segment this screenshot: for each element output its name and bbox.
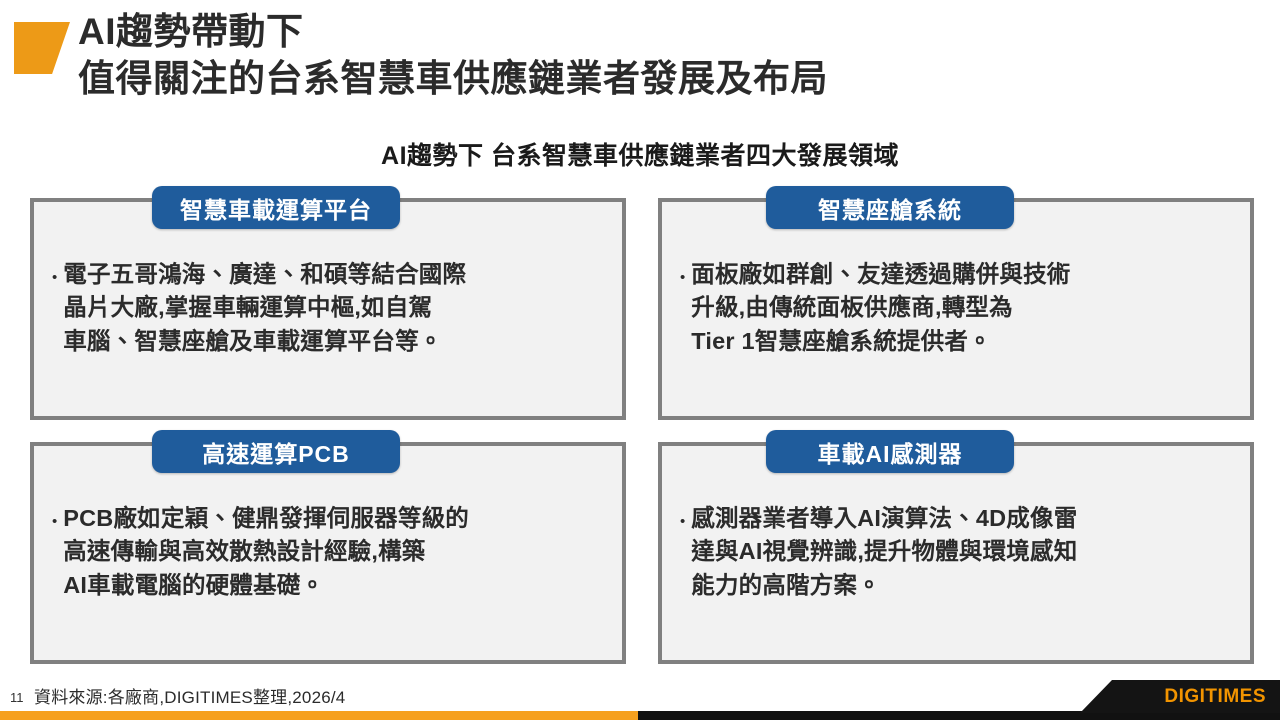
source-note: 資料來源:各廠商,DIGITIMES整理,2026/4 bbox=[34, 683, 345, 708]
bullet-icon: • bbox=[680, 502, 691, 542]
card-body-text-1: 電子五哥鴻海、廣達、和碩等結合國際 晶片大廠,掌握車輛運算中樞,如自駕 車腦、智… bbox=[63, 258, 466, 358]
card-grid: 智慧車載運算平台 • 電子五哥鴻海、廣達、和碩等結合國際 晶片大廠,掌握車輛運算… bbox=[30, 198, 1254, 664]
card-header-1: 智慧車載運算平台 bbox=[152, 186, 400, 229]
footer: 11 資料來源:各廠商,DIGITIMES整理,2026/4 DIGITIMES bbox=[0, 680, 1280, 720]
card-body-text-4: 感測器業者導入AI演算法、4D成像雷 達與AI視覺辨識,提升物體與環境感知 能力… bbox=[691, 502, 1077, 602]
card-body-3: • PCB廠如定穎、健鼎發揮伺服器等級的 高速傳輸與高效散熱設計經驗,構築 AI… bbox=[52, 502, 606, 602]
card-smart-vehicle-computing-platform: 智慧車載運算平台 • 電子五哥鴻海、廣達、和碩等結合國際 晶片大廠,掌握車輛運算… bbox=[30, 198, 626, 420]
card-body-1: • 電子五哥鴻海、廣達、和碩等結合國際 晶片大廠,掌握車輛運算中樞,如自駕 車腦… bbox=[52, 258, 606, 358]
digitimes-logo: DIGITIMES bbox=[1080, 680, 1280, 713]
card-smart-cockpit-system: 智慧座艙系統 • 面板廠如群創、友達透過購併與技術 升級,由傳統面板供應商,轉型… bbox=[658, 198, 1254, 420]
card-header-2: 智慧座艙系統 bbox=[766, 186, 1014, 229]
page-subtitle: AI趨勢下 台系智慧車供應鏈業者四大發展領域 bbox=[0, 136, 1280, 172]
page-title-line-2: 值得關注的台系智慧車供應鏈業者發展及布局 bbox=[78, 55, 1228, 102]
card-header-3: 高速運算PCB bbox=[152, 430, 400, 473]
bullet-icon: • bbox=[52, 502, 63, 542]
page-number: 11 bbox=[10, 690, 24, 705]
page-title: AI趨勢帶動下 值得關注的台系智慧車供應鏈業者發展及布局 bbox=[78, 8, 1228, 103]
card-body-text-3: PCB廠如定穎、健鼎發揮伺服器等級的 高速傳輸與高效散熱設計經驗,構築 AI車載… bbox=[63, 502, 469, 602]
digitimes-logo-text: DIGITIMES bbox=[1164, 686, 1266, 708]
card-body-text-2: 面板廠如群創、友達透過購併與技術 升級,由傳統面板供應商,轉型為 Tier 1智… bbox=[691, 258, 1070, 358]
page-title-line-1: AI趨勢帶動下 bbox=[78, 8, 1228, 55]
title-accent-shape bbox=[14, 22, 70, 74]
logo-prefix: D bbox=[1164, 686, 1178, 707]
footer-bar-orange bbox=[0, 711, 640, 720]
logo-suffix: IGITIMES bbox=[1179, 686, 1266, 707]
bullet-icon: • bbox=[680, 258, 691, 298]
bullet-icon: • bbox=[52, 258, 63, 298]
card-automotive-ai-sensors: 車載AI感測器 • 感測器業者導入AI演算法、4D成像雷 達與AI視覺辨識,提升… bbox=[658, 442, 1254, 664]
card-body-4: • 感測器業者導入AI演算法、4D成像雷 達與AI視覺辨識,提升物體與環境感知 … bbox=[680, 502, 1234, 602]
card-header-4: 車載AI感測器 bbox=[766, 430, 1014, 473]
card-body-2: • 面板廠如群創、友達透過購併與技術 升級,由傳統面板供應商,轉型為 Tier … bbox=[680, 258, 1234, 358]
card-high-speed-computing-pcb: 高速運算PCB • PCB廠如定穎、健鼎發揮伺服器等級的 高速傳輸與高效散熱設計… bbox=[30, 442, 626, 664]
